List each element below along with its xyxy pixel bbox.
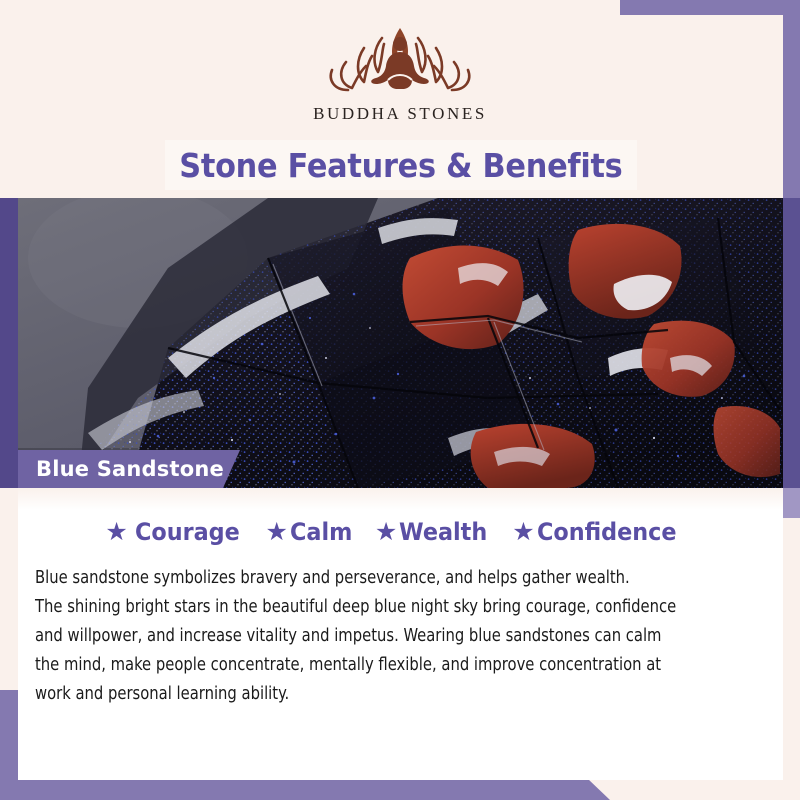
content-card: ★ Courage ★ Calm ★ Wealth ★ Confidence B… (18, 488, 783, 780)
brand-logo: BUDDHA STONES (0, 18, 800, 136)
title-banner: Stone Features & Benefits (165, 140, 637, 190)
stone-photo (18, 198, 783, 488)
description-line: and willpower, and increase vitality and… (35, 622, 734, 651)
brand-wordmark: BUDDHA STONES (313, 104, 487, 124)
star-icon: ★ (105, 520, 127, 545)
stone-photo-art (18, 198, 783, 488)
decor-photo-right-bar (783, 198, 800, 488)
feature-item-courage: ★ Courage (105, 518, 247, 546)
feature-label: Calm (290, 518, 352, 546)
description-text: Blue sandstone symbolizes bravery and pe… (35, 564, 734, 709)
feature-label: Wealth (399, 518, 487, 546)
feature-label: Confidence (537, 518, 677, 546)
feature-item-confidence: ★ Confidence (512, 518, 686, 546)
feature-item-calm: ★ Calm (265, 518, 356, 546)
decor-right-lower-bar (783, 488, 800, 518)
description-line: work and personal learning ability. (35, 680, 734, 709)
star-icon: ★ (512, 520, 534, 545)
card-top-gradient (18, 488, 783, 510)
stone-name-label: Blue Sandstone (36, 457, 224, 481)
decor-top-right-bar (620, 0, 800, 15)
star-icon: ★ (375, 520, 397, 545)
decor-photo-left-bar (0, 198, 18, 488)
infographic-page: BUDDHA STONES Stone Features & Benefits (0, 0, 800, 800)
description-line: Blue sandstone symbolizes bravery and pe… (35, 564, 734, 593)
decor-bottom-bar (0, 779, 620, 800)
lotus-meditation-icon (312, 18, 488, 100)
feature-list: ★ Courage ★ Calm ★ Wealth ★ Confidence (18, 518, 783, 546)
description-line: The shining bright stars in the beautifu… (35, 593, 734, 622)
stone-name-badge: Blue Sandstone (18, 450, 240, 488)
feature-label: Courage (135, 518, 240, 546)
description-line: the mind, make people concentrate, menta… (35, 651, 734, 680)
feature-item-wealth: ★ Wealth (375, 518, 494, 546)
star-icon: ★ (265, 520, 287, 545)
page-title: Stone Features & Benefits (179, 146, 622, 185)
